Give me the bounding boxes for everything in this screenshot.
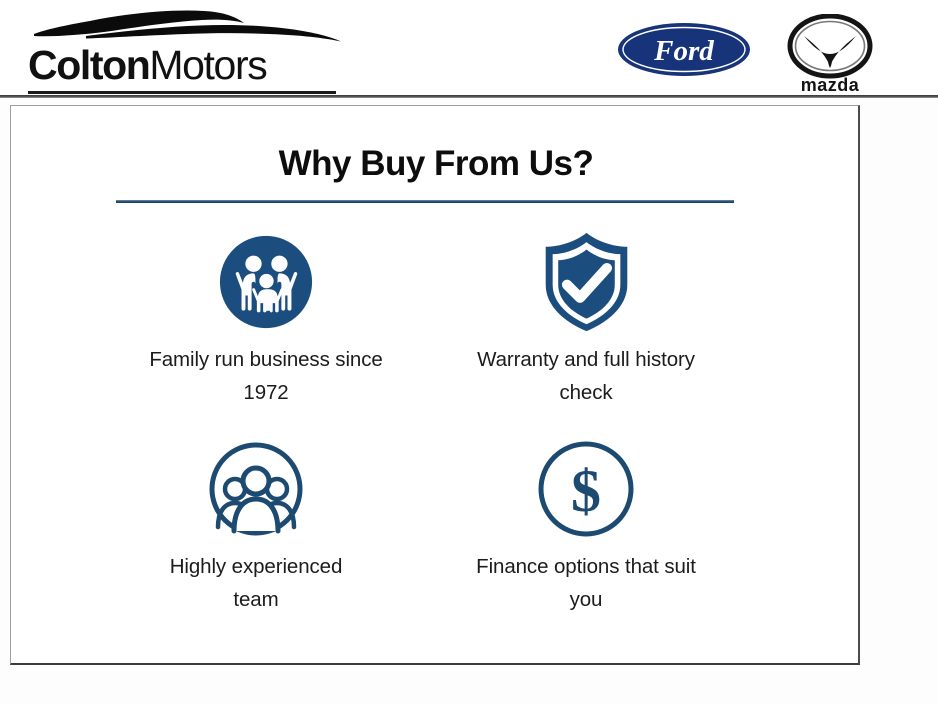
title-underline	[116, 200, 734, 203]
feature-caption: Finance options that suit you	[436, 550, 736, 616]
page-header: ColtonMotors Ford mazda	[0, 0, 938, 97]
feature-caption: Family run business since 1972	[116, 343, 416, 409]
colton-motors-logo[interactable]: ColtonMotors	[28, 8, 348, 92]
brand-name-light: Motors	[149, 42, 266, 88]
feature-caption: Warranty and full history check	[436, 343, 736, 409]
feature-item[interactable]: $ Finance options that suit you	[406, 439, 766, 644]
feature-caption: Highly experienced team	[106, 550, 406, 616]
ford-wordmark: Ford	[653, 35, 714, 67]
content-panel: Why Buy From Us?	[10, 105, 860, 665]
caption-line-2: you	[570, 588, 603, 611]
page-title: Why Buy From Us?	[11, 144, 861, 184]
caption-line-2: check	[559, 381, 612, 404]
mazda-logo[interactable]: mazda	[784, 14, 876, 94]
shield-check-icon	[536, 232, 636, 332]
svg-text:$: $	[571, 458, 601, 524]
feature-item[interactable]: Family run business since 1972	[86, 232, 446, 437]
brand-underline	[28, 91, 336, 94]
feature-grid: Family run business since 1972 Warranty …	[11, 224, 861, 654]
caption-line-2: team	[233, 588, 278, 611]
family-icon	[216, 232, 316, 332]
mazda-wordmark: mazda	[801, 75, 860, 94]
slide-root: ColtonMotors Ford mazda Why Buy From Us?	[0, 0, 938, 704]
brand-wordmark: ColtonMotors	[28, 42, 348, 88]
brand-name-bold: Colton	[28, 42, 149, 88]
ford-oval-logo[interactable]: Ford	[617, 22, 751, 77]
caption-line-1: Warranty and full history	[477, 348, 695, 371]
feature-item[interactable]: Highly experienced team	[76, 439, 436, 644]
team-people-icon	[206, 439, 306, 539]
caption-line-1: Highly experienced	[170, 555, 343, 578]
dollar-sign-icon: $	[536, 439, 636, 539]
header-divider	[0, 95, 938, 98]
feature-item[interactable]: Warranty and full history check	[406, 232, 766, 437]
caption-line-1: Family run business since	[149, 348, 382, 371]
caption-line-1: Finance options that suit	[476, 555, 696, 578]
caption-line-2: 1972	[243, 381, 288, 404]
